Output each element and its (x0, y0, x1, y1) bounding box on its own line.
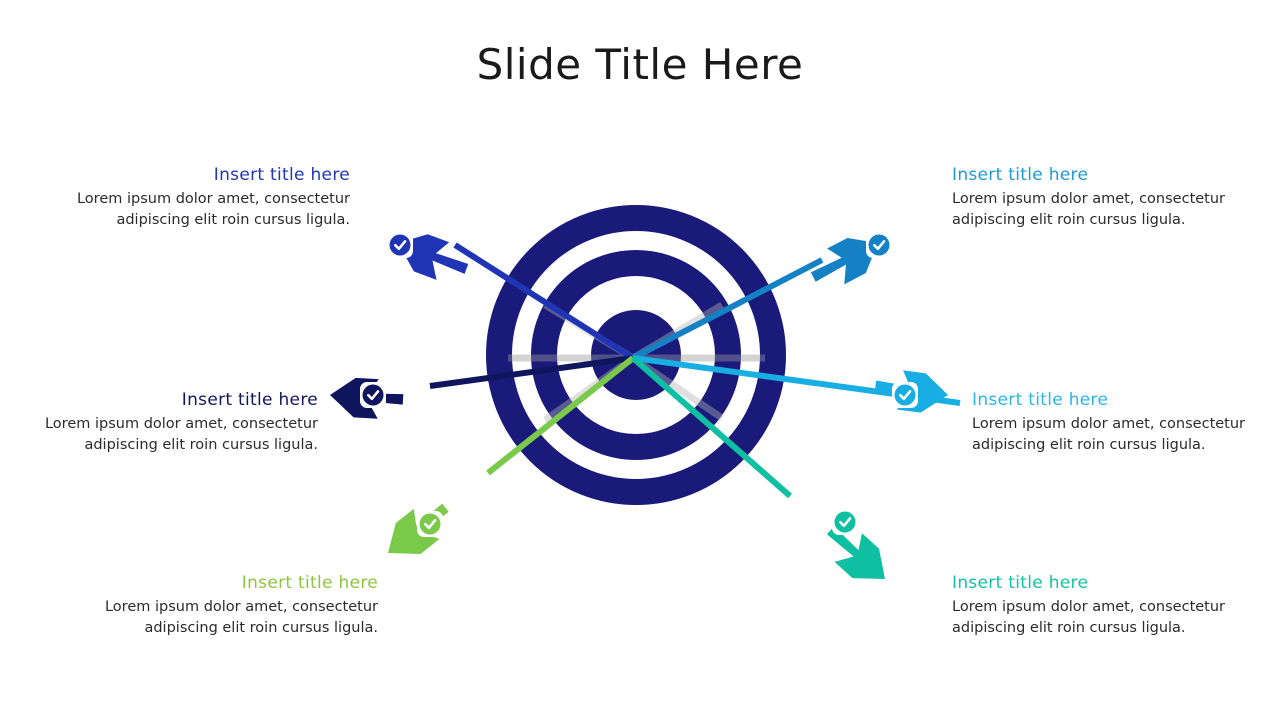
callout-body-middle-right: Lorem ipsum dolor amet, consectetur adip… (972, 414, 1262, 456)
check-badge-bottom-left[interactable] (417, 511, 443, 537)
callout-body-top-right: Lorem ipsum dolor amet, consectetur adip… (952, 189, 1242, 231)
callout-title-bottom-right: Insert title here (952, 572, 1242, 595)
check-badge-top-left[interactable] (387, 232, 413, 258)
callout-body-middle-left: Lorem ipsum dolor amet, consectetur adip… (28, 414, 318, 456)
callout-title-bottom-left: Insert title here (88, 572, 378, 595)
check-circle-icon (869, 235, 890, 256)
callout-body-top-left: Lorem ipsum dolor amet, consectetur adip… (60, 189, 350, 231)
callout-body-bottom-right: Lorem ipsum dolor amet, consectetur adip… (952, 597, 1242, 639)
callout-middle-right[interactable]: Insert title here Lorem ipsum dolor amet… (972, 389, 1262, 456)
check-circle-icon (420, 514, 441, 535)
callout-title-middle-right: Insert title here (972, 389, 1262, 412)
callout-body-bottom-left: Lorem ipsum dolor amet, consectetur adip… (88, 597, 378, 639)
callout-title-top-left: Insert title here (60, 164, 350, 187)
callout-bottom-right[interactable]: Insert title here Lorem ipsum dolor amet… (952, 572, 1242, 639)
callout-title-top-right: Insert title here (952, 164, 1242, 187)
callout-top-right[interactable]: Insert title here Lorem ipsum dolor amet… (952, 164, 1242, 231)
check-circle-icon (363, 385, 384, 406)
callout-middle-left[interactable]: Insert title here Lorem ipsum dolor amet… (28, 389, 318, 456)
callout-bottom-left[interactable]: Insert title here Lorem ipsum dolor amet… (88, 572, 378, 639)
slide-canvas: Slide Title Here (0, 0, 1280, 720)
check-circle-icon (895, 385, 916, 406)
callout-title-middle-left: Insert title here (28, 389, 318, 412)
check-badge-top-right[interactable] (866, 232, 892, 258)
check-circle-icon (390, 235, 411, 256)
check-circle-icon (835, 512, 856, 533)
check-badge-bottom-right[interactable] (832, 509, 858, 535)
check-badge-middle-right[interactable] (892, 382, 918, 408)
check-badge-middle-left[interactable] (360, 382, 386, 408)
callout-top-left[interactable]: Insert title here Lorem ipsum dolor amet… (60, 164, 350, 231)
